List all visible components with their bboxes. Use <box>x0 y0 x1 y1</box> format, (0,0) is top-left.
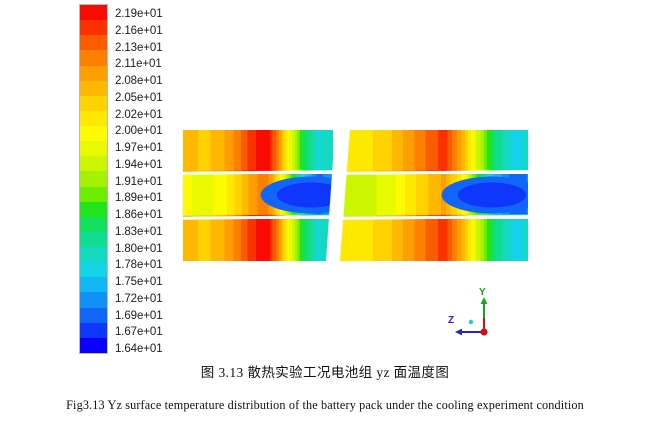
legend-tick-label: 1.97e+01 <box>115 142 189 154</box>
figure-caption-english: Fig3.13 Yz surface temperature distribut… <box>12 396 638 415</box>
legend-tick-label: 2.13e+01 <box>115 42 189 54</box>
temperature-field-right <box>340 130 528 261</box>
legend-tick-label: 1.86e+01 <box>115 209 189 221</box>
legend-tick-label: 1.67e+01 <box>115 326 189 338</box>
legend-band-18 <box>80 277 107 292</box>
legend-tick-label: 2.19e+01 <box>115 8 189 20</box>
legend-band-19 <box>80 292 107 307</box>
legend-band-10 <box>80 156 107 171</box>
axis-label-y: Y <box>479 288 486 298</box>
legend-tick-label: 2.16e+01 <box>115 25 189 37</box>
cell-row-bottom <box>183 219 333 261</box>
legend-band-17 <box>80 262 107 277</box>
axis-triad: Y Z <box>446 288 508 340</box>
legend-band-3 <box>80 50 107 65</box>
legend-band-4 <box>80 66 107 81</box>
cell-row-bottom <box>340 219 528 261</box>
legend-band-5 <box>80 81 107 96</box>
cell-row-top <box>183 130 333 171</box>
legend-tick-label: 1.69e+01 <box>115 310 189 322</box>
legend-band-13 <box>80 202 107 217</box>
axis-triad-icon <box>446 288 508 340</box>
legend-tick-label: 1.94e+01 <box>115 159 189 171</box>
axis-label-z: Z <box>448 316 454 326</box>
cell-row-middle <box>183 174 333 216</box>
legend-band-15 <box>80 232 107 247</box>
legend-band-21 <box>80 323 107 338</box>
legend-tick-label: 2.00e+01 <box>115 125 189 137</box>
battery-pack-section-left <box>183 130 333 261</box>
legend-tick-label: 1.75e+01 <box>115 276 189 288</box>
legend-tick-label: 1.80e+01 <box>115 243 189 255</box>
legend-band-20 <box>80 308 107 323</box>
legend-band-7 <box>80 111 107 126</box>
cell-row-middle <box>340 174 528 216</box>
figure-caption-chinese: 图 3.13 散热实验工况电池组 yz 面温度图 <box>0 364 650 382</box>
legend-band-22 <box>80 338 107 353</box>
legend-tick-label: 1.91e+01 <box>115 176 189 188</box>
battery-pack-section-right <box>340 130 528 261</box>
legend-tick-label: 2.05e+01 <box>115 92 189 104</box>
legend-band-0 <box>80 5 107 20</box>
temperature-field-left <box>183 130 333 261</box>
legend-tick-label: 1.83e+01 <box>115 226 189 238</box>
legend-band-8 <box>80 126 107 141</box>
color-legend-labels: 2.19e+012.16e+012.13e+012.11e+012.08e+01… <box>115 3 189 355</box>
legend-band-16 <box>80 247 107 262</box>
legend-tick-label: 1.72e+01 <box>115 293 189 305</box>
legend-band-14 <box>80 217 107 232</box>
cell-row-top <box>340 130 528 171</box>
legend-tick-label: 2.02e+01 <box>115 109 189 121</box>
legend-band-6 <box>80 96 107 111</box>
legend-tick-label: 2.08e+01 <box>115 75 189 87</box>
legend-band-9 <box>80 141 107 156</box>
legend-tick-label: 2.11e+01 <box>115 58 189 70</box>
legend-tick-label: 1.89e+01 <box>115 192 189 204</box>
legend-tick-label: 1.64e+01 <box>115 343 189 355</box>
legend-band-2 <box>80 35 107 50</box>
legend-band-12 <box>80 187 107 202</box>
legend-tick-label: 1.78e+01 <box>115 259 189 271</box>
color-legend-bar <box>79 4 108 354</box>
contour-plot <box>183 130 528 261</box>
color-legend: 2.19e+012.16e+012.13e+012.11e+012.08e+01… <box>79 3 189 355</box>
legend-band-11 <box>80 171 107 186</box>
legend-band-1 <box>80 20 107 35</box>
